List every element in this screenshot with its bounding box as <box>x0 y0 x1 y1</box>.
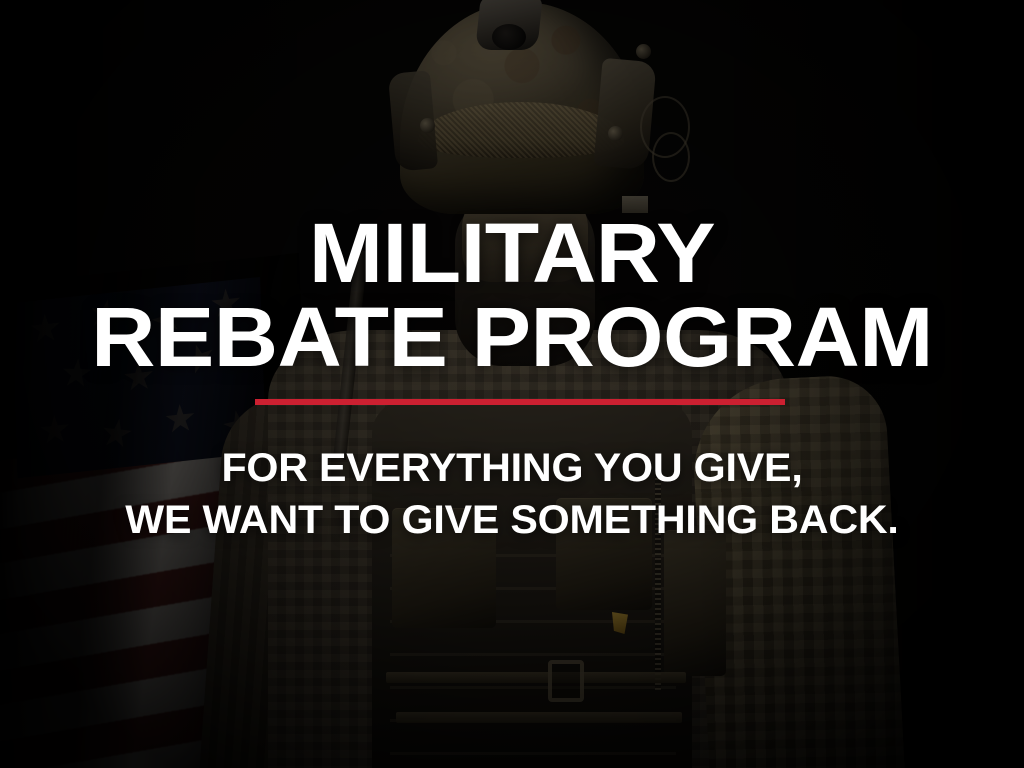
red-divider-rule <box>255 399 785 405</box>
subhead-line-2: WE WANT TO GIVE SOMETHING BACK. <box>0 500 1024 540</box>
text-overlay: MILITARY REBATE PROGRAM FOR EVERYTHING Y… <box>0 0 1024 768</box>
subhead-line-1: FOR EVERYTHING YOU GIVE, <box>0 448 1024 488</box>
military-rebate-program-poster: MILITARY REBATE PROGRAM FOR EVERYTHING Y… <box>0 0 1024 768</box>
headline-line-1: MILITARY <box>0 212 1024 294</box>
headline-line-2: REBATE PROGRAM <box>0 296 1024 378</box>
